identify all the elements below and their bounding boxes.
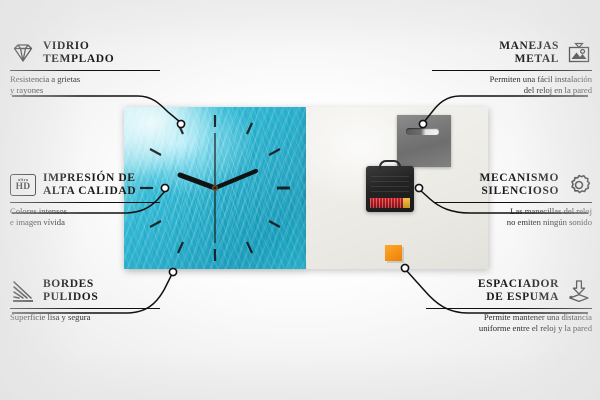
diamond-icon [10,41,36,65]
feature-espaciador-de-espuma[interactable]: ESPACIADOR DE ESPUMA Permite mantener un… [426,278,592,333]
feature-divider [426,308,592,309]
gear-icon [566,173,592,197]
polished-edges-icon [10,279,36,303]
feature-divider [432,70,592,71]
feature-header: ESPACIADOR DE ESPUMA [426,278,592,304]
ultra-hd-icon-main-label: HD [16,183,31,193]
feature-description: Permiten una fácil instalación del reloj… [432,74,592,95]
feature-mecanismo-silencioso[interactable]: MECANISMO SILENCIOSO Las manecillas del … [434,172,592,227]
arrow-down-layers-icon [566,279,592,303]
feature-title: MANEJAS METAL [499,40,559,66]
battery-cap [403,198,410,208]
feature-title: ESPACIADOR DE ESPUMA [478,278,559,304]
metal-hanger-plate [397,115,451,167]
ultra-hd-icon: ultra HD [10,174,36,196]
wall-hanging-frame-icon [566,41,592,65]
feature-header: MECANISMO SILENCIOSO [434,172,592,198]
clock-hands [180,133,256,243]
foam-spacer [385,245,402,261]
feature-divider [10,70,160,71]
mechanism-texture [371,172,409,192]
hanger-slot [406,128,439,135]
feature-manejas-metal[interactable]: MANEJAS METAL Permiten una fácil instala… [432,40,592,95]
feature-vidrio-templado[interactable]: VIDRIO TEMPLADO Resistencia a grietas y … [10,40,160,95]
hanger-loop [379,160,401,170]
feature-title: IMPRESIÓN DE ALTA CALIDAD [43,172,136,198]
feature-impresion-alta-calidad[interactable]: ultra HD IMPRESIÓN DE ALTA CALIDAD Color… [10,172,160,227]
feature-description: Las manecillas del reloj no emiten ningú… [434,206,592,227]
clock-movement-mechanism [366,166,414,212]
feature-description: Permite mantener una distancia uniforme … [426,312,592,333]
feature-divider [10,308,160,309]
battery [370,198,410,208]
feature-description: Colores intensos e imagen vívida [10,206,160,227]
feature-header: MANEJAS METAL [432,40,592,66]
feature-title: VIDRIO TEMPLADO [43,40,114,66]
infographic-canvas: VIDRIO TEMPLADO Resistencia a grietas y … [0,0,600,400]
feature-bordes-pulidos[interactable]: BORDES PULIDOS Superficie lisa y segura [10,278,160,323]
feature-header: ultra HD IMPRESIÓN DE ALTA CALIDAD [10,172,160,198]
feature-description: Superficie lisa y segura [10,312,160,323]
feature-divider [434,202,592,203]
feature-header: BORDES PULIDOS [10,278,160,304]
feature-header: VIDRIO TEMPLADO [10,40,160,66]
feature-divider [10,202,160,203]
feature-title: MECANISMO SILENCIOSO [479,172,559,198]
feature-title: BORDES PULIDOS [43,278,98,304]
connector-endpoint-bordes [169,268,176,275]
feature-description: Resistencia a grietas y rayones [10,74,160,95]
